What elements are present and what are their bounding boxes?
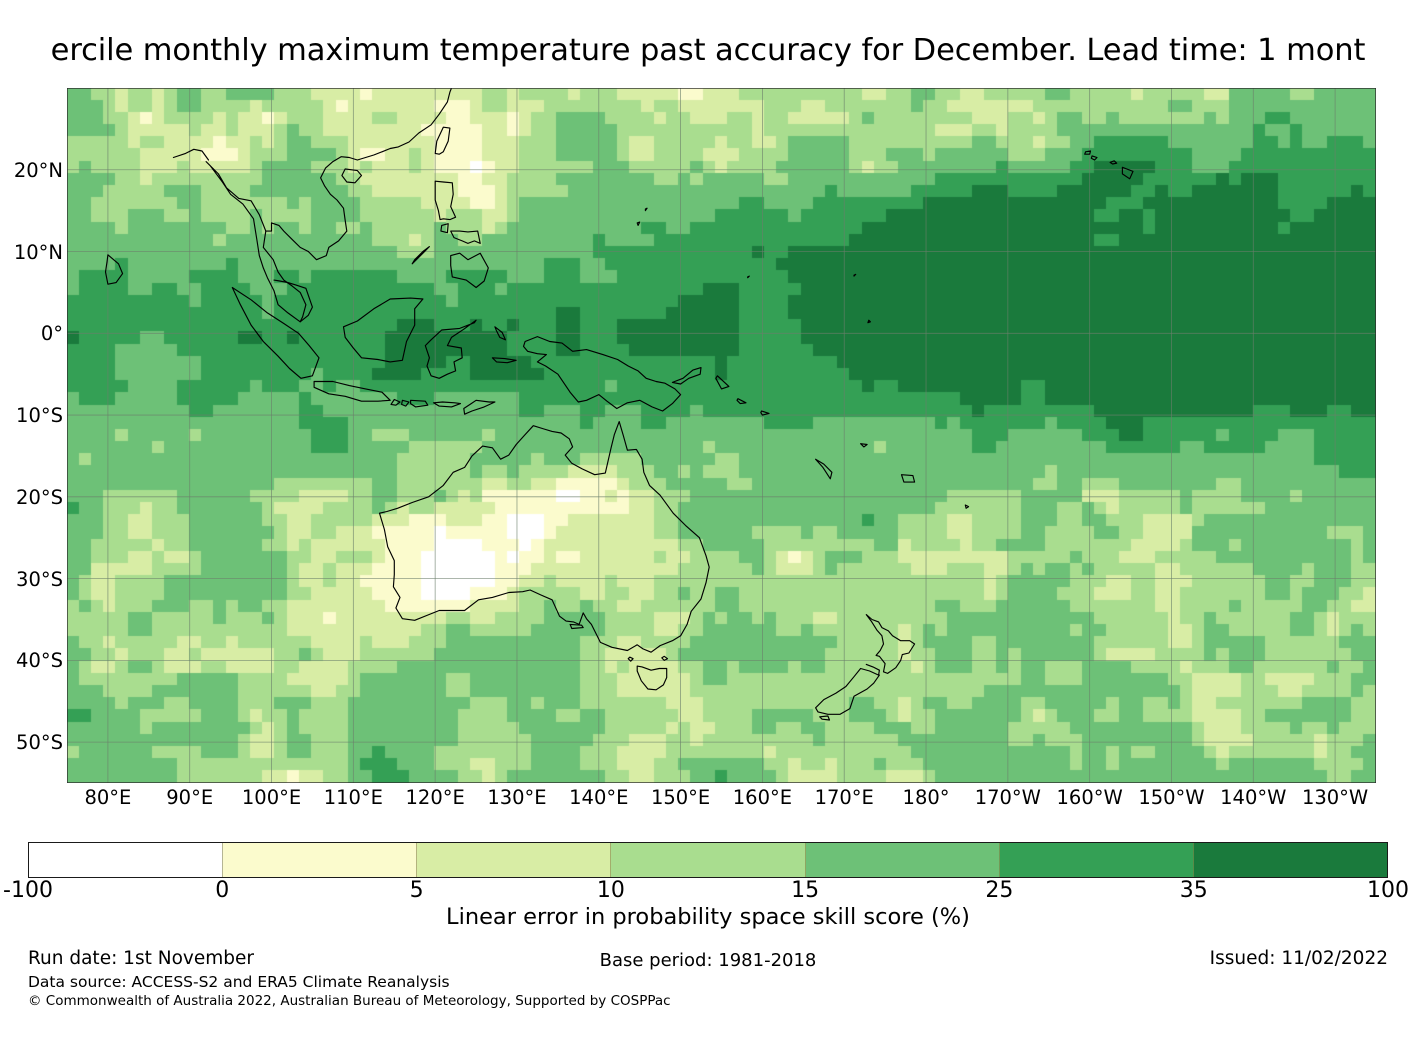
colorbar-band-0 <box>29 843 223 877</box>
colorbar-band-6 <box>1194 843 1387 877</box>
colorbar[interactable] <box>28 842 1388 878</box>
lat-tick-10N: 10°N <box>0 243 63 263</box>
lat-tick-10S: 10°S <box>0 406 63 426</box>
colorbar-axis-label: Linear error in probability space skill … <box>0 903 1416 931</box>
colorbar-band-1 <box>223 843 417 877</box>
colorbar-tick-35: 35 <box>1114 880 1274 902</box>
lat-tick-0: 0° <box>0 324 63 344</box>
colorbar-band-2 <box>417 843 611 877</box>
colorbar-tick-15: 15 <box>725 880 885 902</box>
colorbar-band-3 <box>611 843 805 877</box>
map-overlay-vector <box>67 88 1376 783</box>
colorbar-tick-10: 10 <box>531 880 691 902</box>
colorbar-tick--100: -100 <box>0 880 108 902</box>
colorbar-tick-0: 0 <box>142 880 302 902</box>
footer-issued: Issued: 11/02/2022 <box>1210 948 1388 970</box>
colorbar-tick-100: 100 <box>1308 880 1416 902</box>
footer-copyright: © Commonwealth of Australia 2022, Austra… <box>28 992 671 1010</box>
lat-tick-30S: 30°S <box>0 570 63 590</box>
map-frame-border <box>67 88 1376 783</box>
colorbar-tick-5: 5 <box>337 880 497 902</box>
footer-data-source: Data source: ACCESS-S2 and ERA5 Climate … <box>28 973 450 992</box>
coastline-outlines <box>106 88 1134 720</box>
graticule-gridlines <box>67 88 1376 783</box>
colorbar-band-5 <box>1000 843 1194 877</box>
colorbar-tick-25: 25 <box>919 880 1079 902</box>
page-title: ercile monthly maximum temperature past … <box>0 28 1416 74</box>
colorbar-band-4 <box>806 843 1000 877</box>
lat-tick-20N: 20°N <box>0 161 63 181</box>
lon-tick-130W: 130°W <box>1265 788 1405 808</box>
lat-tick-40S: 40°S <box>0 651 63 671</box>
map-panel[interactable] <box>67 88 1376 783</box>
footer-base-period: Base period: 1981-2018 <box>0 950 1416 972</box>
colorbar-bands <box>28 842 1388 878</box>
lat-tick-50S: 50°S <box>0 733 63 753</box>
lat-tick-20S: 20°S <box>0 488 63 508</box>
